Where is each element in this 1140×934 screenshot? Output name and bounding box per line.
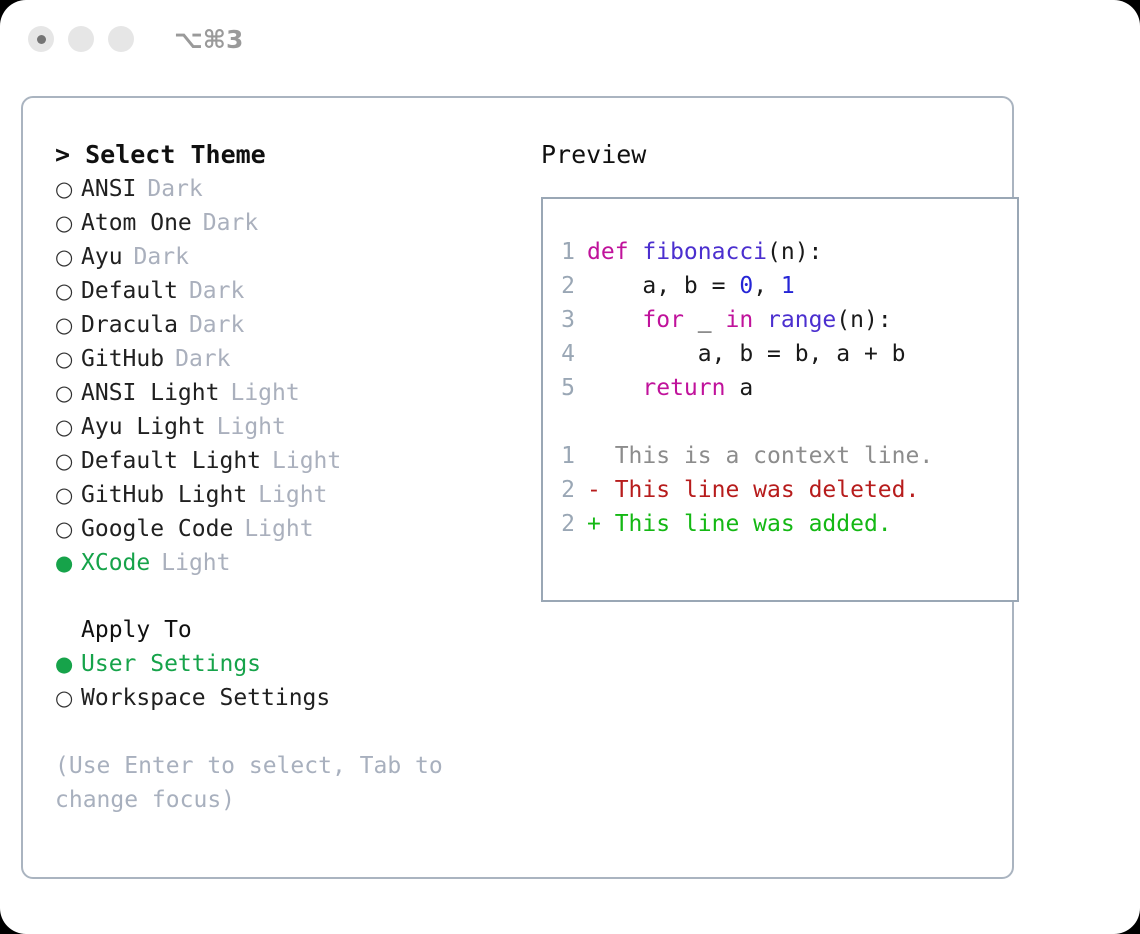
code-line: 3 for _ in range(n): — [543, 303, 1017, 337]
theme-name: GitHub — [81, 342, 164, 376]
app-window: ⌥⌘3 > Select Theme ○ANSIDark○Atom OneDar… — [0, 0, 1140, 934]
main-panel: > Select Theme ○ANSIDark○Atom OneDark○Ay… — [21, 96, 1014, 879]
apply-to-option[interactable]: ●User Settings — [55, 647, 510, 681]
radio-unselected-icon: ○ — [55, 478, 81, 512]
theme-name: XCode — [81, 546, 150, 580]
code-token-fn: range — [767, 307, 836, 333]
diff-text: This is a context line. — [587, 439, 933, 473]
diff-sample: 1 This is a context line.2- This line wa… — [543, 439, 1017, 541]
radio-unselected-icon: ○ — [55, 681, 81, 715]
preview-column: Preview 1def fibonacci(n):2 a, b = 0, 13… — [510, 138, 1019, 817]
code-text: return a — [587, 371, 753, 405]
code-text: def fibonacci(n): — [587, 235, 822, 269]
apply-to-list: ●User Settings○Workspace Settings — [55, 647, 510, 715]
theme-name: GitHub Light — [81, 478, 247, 512]
theme-list-item[interactable]: ○Default LightLight — [55, 444, 510, 478]
theme-kind-label: Dark — [136, 172, 202, 206]
theme-list-item[interactable]: ○AyuDark — [55, 240, 510, 274]
radio-unselected-icon: ○ — [55, 206, 81, 240]
apply-to-label: User Settings — [81, 647, 261, 681]
code-token-kw: def — [587, 239, 642, 265]
code-line: 1def fibonacci(n): — [543, 235, 1017, 269]
code-token-kw: return — [642, 375, 725, 401]
diff-content: This is a context line. — [615, 443, 934, 469]
diff-content: This line was deleted. — [615, 477, 920, 503]
theme-kind-label: Dark — [164, 342, 230, 376]
code-token-kw: in — [725, 307, 753, 333]
keyboard-shortcut-label: ⌥⌘3 — [174, 25, 243, 54]
theme-kind-label: Light — [261, 444, 341, 478]
window-controls — [28, 26, 134, 52]
code-line: 5 return a — [543, 371, 1017, 405]
radio-selected-icon: ● — [55, 546, 81, 580]
panel-columns: > Select Theme ○ANSIDark○Atom OneDark○Ay… — [23, 98, 1012, 817]
diff-line: 1 This is a context line. — [543, 439, 1017, 473]
code-line: 4 a, b = b, a + b — [543, 337, 1017, 371]
theme-kind-label: Dark — [192, 206, 258, 240]
diff-marker — [587, 443, 615, 469]
code-token-plain — [587, 375, 642, 401]
theme-name: ANSI — [81, 172, 136, 206]
line-number: 2 — [543, 473, 587, 507]
code-token-plain: a, b = — [587, 273, 739, 299]
code-token-plain: a, b = b, a + b — [587, 341, 906, 367]
theme-list-item[interactable]: ○GitHub LightLight — [55, 478, 510, 512]
code-token-fn: fibonacci — [642, 239, 767, 265]
radio-unselected-icon: ○ — [55, 172, 81, 206]
preview-box: 1def fibonacci(n):2 a, b = 0, 13 for _ i… — [541, 197, 1019, 602]
spacer — [543, 405, 1017, 439]
line-number: 1 — [543, 439, 587, 473]
code-text: for _ in range(n): — [587, 303, 892, 337]
radio-unselected-icon: ○ — [55, 308, 81, 342]
theme-list-item[interactable]: ○ANSIDark — [55, 172, 510, 206]
theme-name: Ayu Light — [81, 410, 206, 444]
theme-name: Dracula — [81, 308, 178, 342]
theme-name: ANSI Light — [81, 376, 219, 410]
theme-kind-label: Light — [219, 376, 299, 410]
radio-unselected-icon: ○ — [55, 240, 81, 274]
code-token-num: 0 — [739, 273, 753, 299]
line-number: 2 — [543, 507, 587, 541]
diff-content: This line was added. — [615, 511, 892, 537]
diff-marker: + — [587, 511, 615, 537]
diff-line: 2+ This line was added. — [543, 507, 1017, 541]
radio-unselected-icon: ○ — [55, 410, 81, 444]
code-text: a, b = b, a + b — [587, 337, 906, 371]
spacer — [55, 580, 510, 613]
theme-kind-label: Light — [150, 546, 230, 580]
line-number: 3 — [543, 303, 587, 337]
window-titlebar: ⌥⌘3 — [0, 0, 1140, 78]
code-token-plain: (n): — [767, 239, 822, 265]
code-sample: 1def fibonacci(n):2 a, b = 0, 13 for _ i… — [543, 235, 1017, 405]
theme-list-item[interactable]: ●XCodeLight — [55, 546, 510, 580]
code-token-plain — [587, 307, 642, 333]
theme-name: Google Code — [81, 512, 233, 546]
code-token-plain: (n): — [836, 307, 891, 333]
line-number: 1 — [543, 235, 587, 269]
code-token-plain: , — [753, 273, 781, 299]
active-dot-icon — [37, 35, 46, 44]
line-number: 5 — [543, 371, 587, 405]
window-control-second[interactable] — [68, 26, 94, 52]
diff-text: - This line was deleted. — [587, 473, 919, 507]
preview-header: Preview — [541, 138, 1019, 172]
radio-unselected-icon: ○ — [55, 376, 81, 410]
apply-to-header: Apply To — [55, 613, 510, 647]
diff-line: 2- This line was deleted. — [543, 473, 1017, 507]
keyboard-hint-text: (Use Enter to select, Tab to change focu… — [55, 749, 455, 817]
theme-list-item[interactable]: ○DefaultDark — [55, 274, 510, 308]
code-token-plain: a — [725, 375, 753, 401]
radio-unselected-icon: ○ — [55, 444, 81, 478]
code-token-plain: _ — [684, 307, 726, 333]
code-token-kw: for — [642, 307, 684, 333]
theme-name: Default Light — [81, 444, 261, 478]
theme-picker-column: > Select Theme ○ANSIDark○Atom OneDark○Ay… — [39, 138, 510, 817]
theme-list-item[interactable]: ○Google CodeLight — [55, 512, 510, 546]
theme-kind-label: Dark — [178, 308, 244, 342]
theme-kind-label: Light — [247, 478, 327, 512]
code-text: a, b = 0, 1 — [587, 269, 795, 303]
theme-list-item[interactable]: ○GitHubDark — [55, 342, 510, 376]
theme-name: Default — [81, 274, 178, 308]
theme-list: ○ANSIDark○Atom OneDark○AyuDark○DefaultDa… — [55, 172, 510, 580]
theme-list-item[interactable]: ○ANSI LightLight — [55, 376, 510, 410]
theme-kind-label: Light — [233, 512, 313, 546]
code-line: 2 a, b = 0, 1 — [543, 269, 1017, 303]
code-token-plain — [753, 307, 767, 333]
theme-kind-label: Light — [206, 410, 286, 444]
line-number: 4 — [543, 337, 587, 371]
theme-kind-label: Dark — [178, 274, 244, 308]
radio-unselected-icon: ○ — [55, 512, 81, 546]
radio-unselected-icon: ○ — [55, 342, 81, 376]
theme-list-item[interactable]: ○DraculaDark — [55, 308, 510, 342]
apply-to-option[interactable]: ○Workspace Settings — [55, 681, 510, 715]
theme-name: Ayu — [81, 240, 123, 274]
theme-list-item[interactable]: ○Ayu LightLight — [55, 410, 510, 444]
line-number: 2 — [543, 269, 587, 303]
theme-list-item[interactable]: ○Atom OneDark — [55, 206, 510, 240]
radio-unselected-icon: ○ — [55, 274, 81, 308]
window-control-third[interactable] — [108, 26, 134, 52]
radio-selected-icon: ● — [55, 647, 81, 681]
diff-marker: - — [587, 477, 615, 503]
theme-kind-label: Dark — [123, 240, 189, 274]
theme-list-header: > Select Theme — [55, 138, 510, 172]
code-token-num: 1 — [781, 273, 795, 299]
diff-text: + This line was added. — [587, 507, 892, 541]
window-control-active[interactable] — [28, 26, 54, 52]
apply-to-label: Workspace Settings — [81, 681, 330, 715]
theme-name: Atom One — [81, 206, 192, 240]
